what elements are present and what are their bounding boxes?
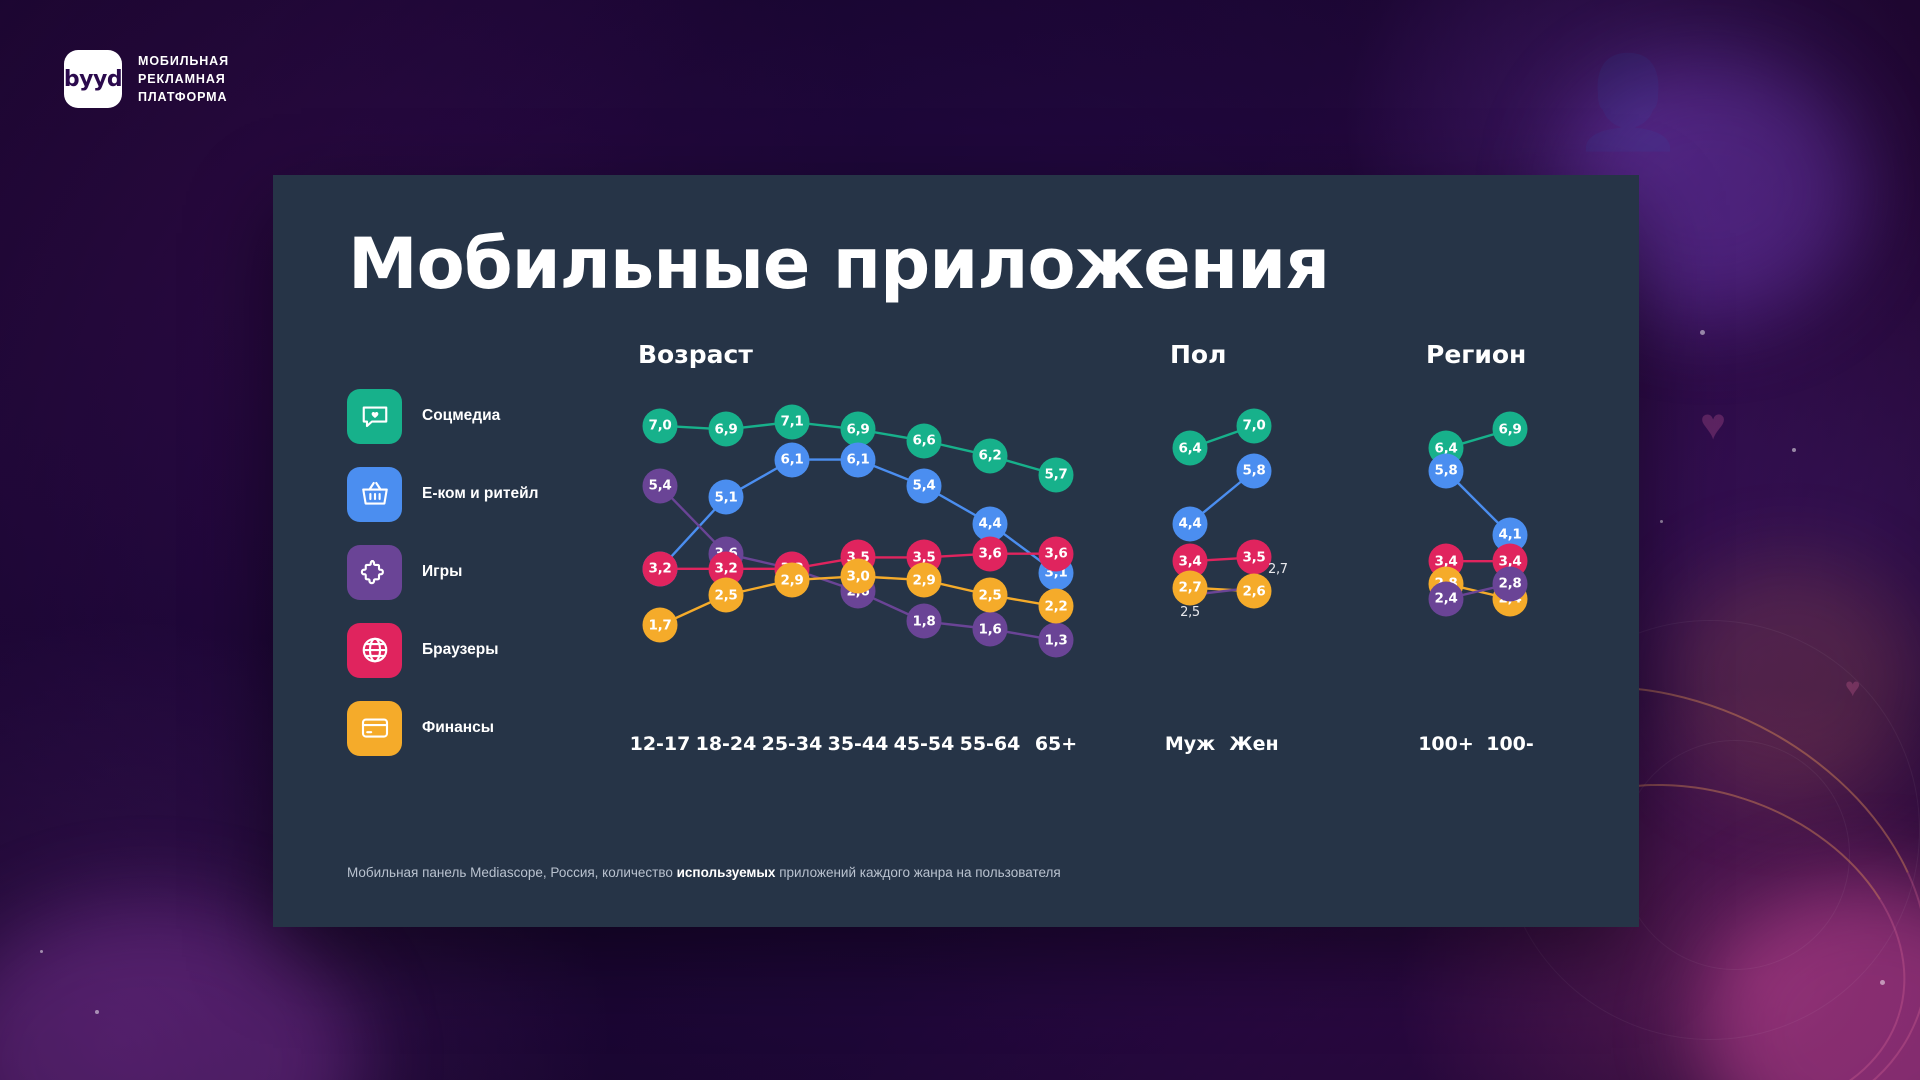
background-dot: [1660, 520, 1663, 523]
data-point[interactable]: 1,8: [907, 604, 942, 639]
data-point[interactable]: 2,7: [1268, 562, 1288, 577]
background-dot: [1880, 980, 1885, 985]
data-point[interactable]: 5,1: [709, 480, 744, 515]
data-point[interactable]: 5,8: [1429, 453, 1464, 488]
data-point[interactable]: 2,9: [775, 563, 810, 598]
legend-item-5[interactable]: Финансы: [347, 689, 539, 767]
legend-item-2[interactable]: Е-ком и ритейл: [347, 455, 539, 533]
data-point[interactable]: 7,1: [775, 404, 810, 439]
data-point[interactable]: 3,5: [1237, 540, 1272, 575]
data-point[interactable]: 4,4: [1173, 506, 1208, 541]
data-point[interactable]: 2,5: [709, 578, 744, 613]
chat-heart-icon: [347, 389, 402, 444]
data-point[interactable]: 1,6: [973, 612, 1008, 647]
legend-item-4[interactable]: Браузеры: [347, 611, 539, 689]
background-dot: [40, 950, 43, 953]
data-point[interactable]: 6,1: [775, 442, 810, 477]
data-point[interactable]: 3,2: [643, 551, 678, 586]
background-heart-icon: ♥: [1700, 400, 1726, 450]
data-point[interactable]: 6,6: [907, 423, 942, 458]
data-point[interactable]: 3,0: [841, 559, 876, 594]
x-axis-tick: 45-54: [894, 733, 955, 755]
data-point[interactable]: 2,6: [1237, 574, 1272, 609]
x-axis-tick: 65+: [1035, 733, 1077, 755]
legend-item-label: Финансы: [422, 719, 494, 737]
brand-tagline-line2: РЕКЛАМНАЯ: [138, 70, 229, 88]
legend-item-label: Е-ком и ритейл: [422, 485, 539, 503]
background-dot: [1700, 330, 1705, 335]
plot-area: 6,47,04,45,83,43,52,72,62,52,7МужЖен: [1170, 393, 1300, 673]
legend-item-1[interactable]: Соцмедиа: [347, 377, 539, 455]
data-point[interactable]: 6,4: [1173, 431, 1208, 466]
logo-mark-text: byyd: [64, 67, 122, 92]
footnote-prefix: Мобильная панель Mediascope, Россия, кол…: [347, 865, 677, 880]
chart-panel-region: Регион6,46,95,84,13,43,42,82,42,42,8100+…: [1426, 340, 1561, 673]
x-axis-tick: 18-24: [696, 733, 757, 755]
data-point[interactable]: 1,7: [643, 608, 678, 643]
credit-card-icon: [347, 701, 402, 756]
byyd-logo-mark: byyd: [64, 50, 122, 108]
brand-tagline-line1: МОБИЛЬНАЯ: [138, 52, 229, 70]
data-point[interactable]: 6,9: [1493, 412, 1528, 447]
data-point[interactable]: 2,7: [1173, 570, 1208, 605]
data-point[interactable]: 2,9: [907, 563, 942, 598]
footnote-suffix: приложений каждого жанра на пользователя: [775, 865, 1060, 880]
chart-title: Возраст: [638, 340, 1058, 369]
data-point[interactable]: 2,5: [973, 578, 1008, 613]
puzzle-icon: [347, 545, 402, 600]
x-axis-tick: 25-34: [762, 733, 823, 755]
data-point[interactable]: 2,4: [1429, 581, 1464, 616]
data-point[interactable]: 5,4: [643, 468, 678, 503]
data-point[interactable]: 2,8: [1493, 566, 1528, 601]
background-person-icon: 👤: [1572, 50, 1684, 155]
brand-tagline: МОБИЛЬНАЯ РЕКЛАМНАЯ ПЛАТФОРМА: [138, 52, 229, 106]
data-point[interactable]: 6,9: [709, 412, 744, 447]
data-point[interactable]: 5,4: [907, 468, 942, 503]
x-axis-tick: 100-: [1486, 733, 1534, 755]
plot-area: 7,06,97,16,96,66,25,73,25,16,16,15,44,43…: [638, 393, 1058, 673]
data-point[interactable]: 5,8: [1237, 453, 1272, 488]
basket-icon: [347, 467, 402, 522]
chart-panel-age: Возраст7,06,97,16,96,66,25,73,25,16,16,1…: [638, 340, 1058, 673]
chart-title: Пол: [1170, 340, 1300, 369]
brand-logo: byyd МОБИЛЬНАЯ РЕКЛАМНАЯ ПЛАТФОРМА: [64, 50, 229, 108]
legend-item-label: Браузеры: [422, 641, 498, 659]
background-dot: [1792, 448, 1796, 452]
data-point[interactable]: 7,0: [643, 408, 678, 443]
chart-panel-gender: Пол6,47,04,45,83,43,52,72,62,52,7МужЖен: [1170, 340, 1300, 673]
data-point[interactable]: 3,6: [973, 536, 1008, 571]
footnote: Мобильная панель Mediascope, Россия, кол…: [347, 865, 1061, 880]
plot-area: 6,46,95,84,13,43,42,82,42,42,8100+100-: [1426, 393, 1561, 673]
chart-title: Регион: [1426, 340, 1561, 369]
legend-item-3[interactable]: Игры: [347, 533, 539, 611]
background-heart-icon-small: ♥: [1845, 672, 1860, 703]
data-point[interactable]: 7,0: [1237, 408, 1272, 443]
x-axis-tick: 12-17: [630, 733, 691, 755]
legend-item-label: Соцмедиа: [422, 407, 500, 425]
data-point[interactable]: 1,3: [1039, 623, 1074, 658]
brand-tagline-line3: ПЛАТФОРМА: [138, 88, 229, 106]
background-dot: [95, 1010, 99, 1014]
data-point[interactable]: 5,7: [1039, 457, 1074, 492]
x-axis-tick: Жен: [1229, 733, 1278, 755]
legend-item-label: Игры: [422, 563, 462, 581]
data-point[interactable]: 3,6: [1039, 536, 1074, 571]
x-axis-tick: 55-64: [960, 733, 1021, 755]
footnote-emphasis: используемых: [677, 865, 776, 880]
x-axis-tick: 35-44: [828, 733, 889, 755]
data-point[interactable]: 2,2: [1039, 589, 1074, 624]
data-point[interactable]: 2,5: [1180, 605, 1200, 620]
data-point[interactable]: 6,2: [973, 438, 1008, 473]
x-axis-tick: 100+: [1418, 733, 1474, 755]
page-title: Мобильные приложения: [348, 223, 1329, 305]
globe-icon: [347, 623, 402, 678]
data-point[interactable]: 6,1: [841, 442, 876, 477]
x-axis-tick: Муж: [1165, 733, 1215, 755]
slide-card: Мобильные приложения СоцмедиаЕ-ком и рит…: [273, 175, 1639, 927]
chart-legend: СоцмедиаЕ-ком и ритейлИгрыБраузерыФинанс…: [347, 377, 539, 767]
